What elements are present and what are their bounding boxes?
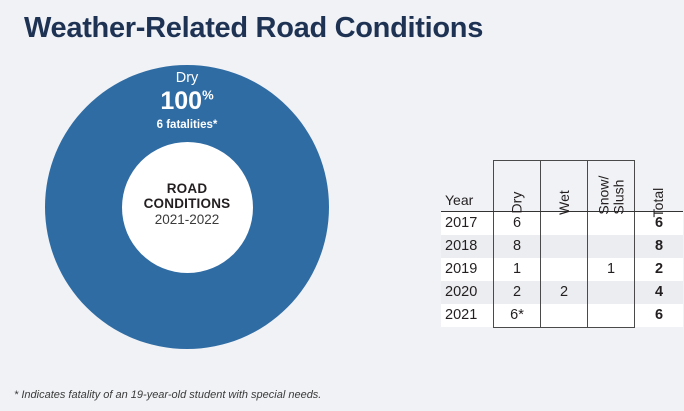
cell-total: 6 bbox=[635, 304, 684, 328]
column-header-total-label: Total bbox=[651, 188, 666, 218]
column-header-wet-label: Wet bbox=[556, 191, 571, 216]
cell-year: 2019 bbox=[441, 258, 494, 281]
footnote: * Indicates fatality of an 19-year-old s… bbox=[14, 389, 321, 401]
cell-dry: 6* bbox=[494, 304, 541, 328]
donut-center-line-2: CONDITIONS bbox=[117, 196, 257, 211]
cell-year: 2021 bbox=[441, 304, 494, 328]
cell-wet bbox=[541, 258, 588, 281]
column-header-snow-slush-label: Snow/ Slush bbox=[596, 176, 626, 215]
cell-wet bbox=[541, 304, 588, 328]
table-head: Year Dry Wet Snow/ Slush Total bbox=[441, 161, 683, 212]
cell-dry: 1 bbox=[494, 258, 541, 281]
column-header-dry-label: Dry bbox=[509, 192, 524, 214]
donut-slice-number: 100 bbox=[160, 87, 202, 115]
donut-slice-name: Dry bbox=[97, 69, 277, 87]
donut-center-line-1: ROAD bbox=[117, 181, 257, 196]
table-row: 2021 6* 6 bbox=[441, 304, 683, 328]
cell-year: 2020 bbox=[441, 281, 494, 304]
cell-dry: 2 bbox=[494, 281, 541, 304]
donut-slice-subtext: 6 fatalities* bbox=[97, 119, 277, 131]
table-row: 2019 1 1 2 bbox=[441, 258, 683, 281]
cell-total: 8 bbox=[635, 235, 684, 258]
column-header-wet: Wet bbox=[541, 161, 588, 212]
page-title: Weather-Related Road Conditions bbox=[24, 12, 483, 45]
table-header-row: Year Dry Wet Snow/ Slush Total bbox=[441, 161, 683, 212]
donut-center-label: ROAD CONDITIONS 2021-2022 bbox=[117, 181, 257, 227]
cell-wet: 2 bbox=[541, 281, 588, 304]
table-body: 2017 6 6 2018 8 8 2019 1 1 2 2020 bbox=[441, 211, 683, 327]
cell-snow-slush: 1 bbox=[588, 258, 635, 281]
data-table-container: Year Dry Wet Snow/ Slush Total 2017 6 6 … bbox=[441, 160, 683, 328]
cell-snow-slush bbox=[588, 235, 635, 258]
cell-dry: 8 bbox=[494, 235, 541, 258]
table-row: 2020 2 2 4 bbox=[441, 281, 683, 304]
cell-snow-slush bbox=[588, 281, 635, 304]
column-header-total: Total bbox=[635, 161, 684, 212]
donut-center-years: 2021-2022 bbox=[117, 212, 257, 227]
cell-dry: 6 bbox=[494, 211, 541, 235]
cell-total: 4 bbox=[635, 281, 684, 304]
donut-slice-unit: % bbox=[202, 88, 214, 103]
cell-year: 2018 bbox=[441, 235, 494, 258]
fatalities-table: Year Dry Wet Snow/ Slush Total 2017 6 6 … bbox=[441, 160, 683, 328]
column-header-snow-slush: Snow/ Slush bbox=[588, 161, 635, 212]
donut-chart: Dry 100% 6 fatalities* ROAD CONDITIONS 2… bbox=[45, 65, 329, 349]
column-header-dry: Dry bbox=[494, 161, 541, 212]
cell-year: 2017 bbox=[441, 211, 494, 235]
column-header-year: Year bbox=[441, 161, 494, 212]
cell-total: 2 bbox=[635, 258, 684, 281]
donut-slice-value: 100% bbox=[97, 88, 277, 116]
cell-snow-slush bbox=[588, 304, 635, 328]
donut-slice-label: Dry 100% 6 fatalities* bbox=[97, 69, 277, 131]
table-row: 2018 8 8 bbox=[441, 235, 683, 258]
cell-wet bbox=[541, 235, 588, 258]
